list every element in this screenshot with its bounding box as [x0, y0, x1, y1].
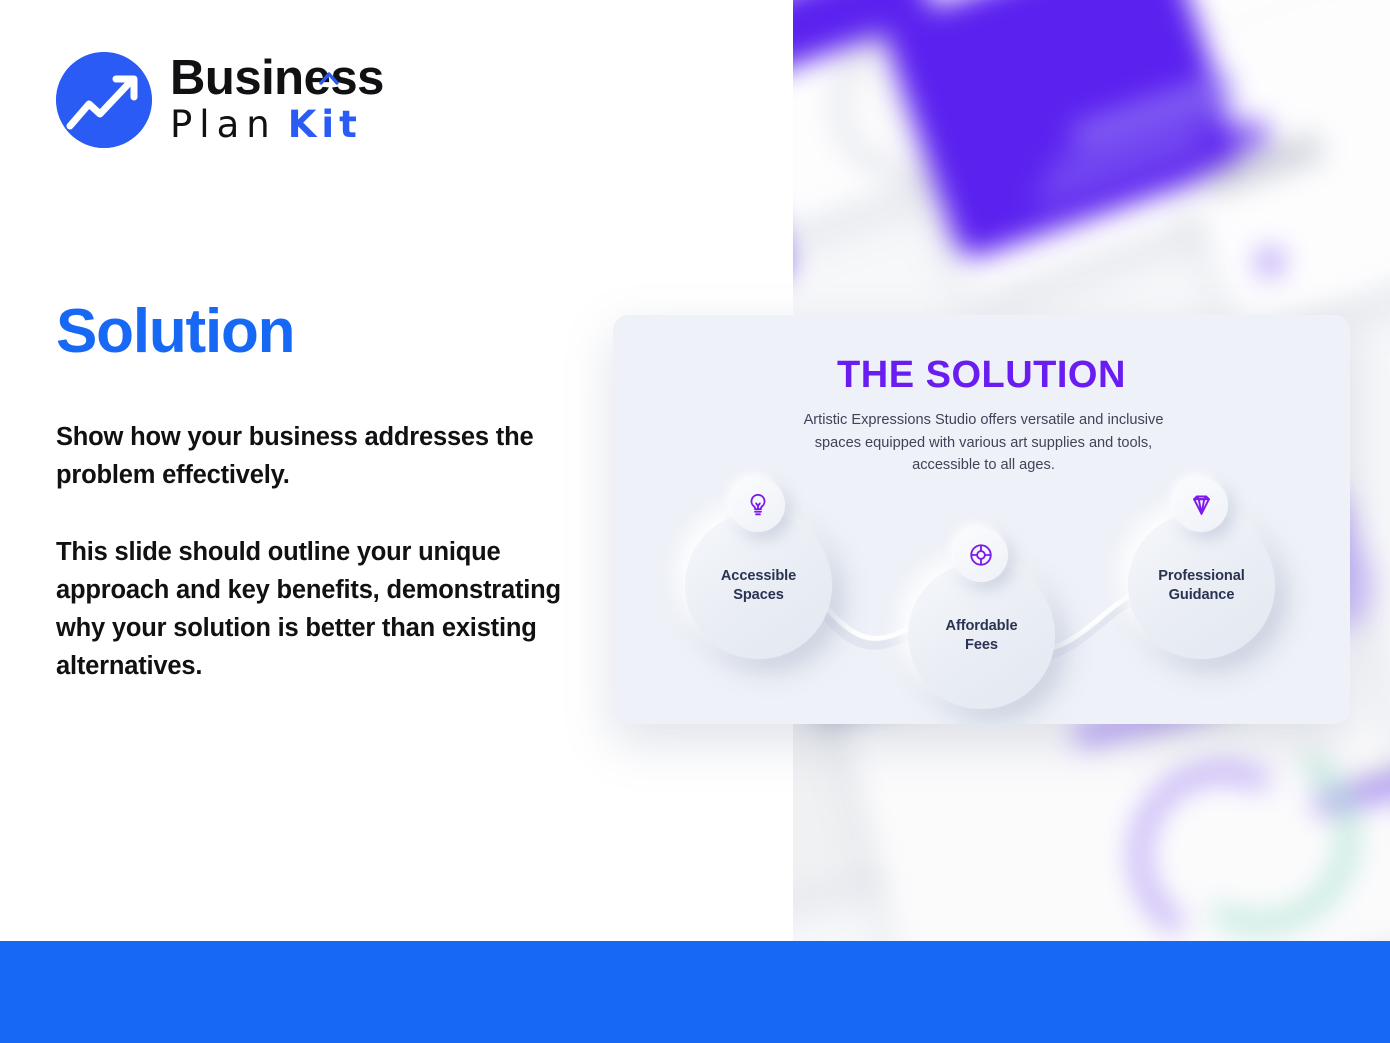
background-dot-shape — [1258, 250, 1282, 274]
brand-name-plan: Plan — [170, 103, 277, 146]
growth-chart-circle-icon — [56, 52, 152, 148]
solution-preview-card[interactable]: THE SOLUTION Artistic Expressions Studio… — [613, 315, 1350, 724]
node-circle[interactable]: Accessible Spaces — [685, 512, 832, 659]
node-circle[interactable]: Professional Guidance — [1128, 512, 1275, 659]
node-label: Accessible Spaces — [721, 567, 796, 604]
node-label-line1: Affordable — [946, 618, 1018, 634]
node-label-line2: Fees — [965, 637, 998, 653]
chevron-up-accent-icon — [319, 45, 339, 59]
node-label-line2: Guidance — [1169, 587, 1235, 603]
lifebuoy-icon — [954, 528, 1008, 582]
diamond-gem-icon — [1174, 478, 1228, 532]
lightbulb-icon — [731, 478, 785, 532]
brand-logo[interactable]: Business PlanKit — [56, 52, 384, 148]
node-label: Professional Guidance — [1158, 567, 1244, 604]
slide-paragraph-1: Show how your business addresses the pro… — [56, 418, 586, 495]
node-label: Affordable Fees — [946, 617, 1018, 654]
background-dot-shape — [1238, 120, 1268, 150]
brand-name-line1: Business — [170, 54, 384, 102]
brand-name-kit: Kit — [288, 103, 362, 146]
page-title: Solution — [56, 296, 294, 367]
node-label-line2: Spaces — [733, 587, 784, 603]
brand-name-line2: PlanKit — [170, 104, 384, 145]
node-circle[interactable]: Affordable Fees — [908, 562, 1055, 709]
footer-accent-bar — [0, 941, 1390, 1043]
brand-wordmark: Business PlanKit — [170, 54, 384, 145]
node-label-line1: Professional — [1158, 568, 1244, 584]
node-label-line1: Accessible — [721, 568, 796, 584]
slide-paragraph-2: This slide should outline your unique ap… — [56, 533, 586, 686]
slide-description: Show how your business addresses the pro… — [56, 418, 586, 686]
solution-nodes-diagram: Accessible Spaces Affordable Fees — [613, 315, 1350, 724]
brand-name-business: Business — [170, 51, 384, 105]
